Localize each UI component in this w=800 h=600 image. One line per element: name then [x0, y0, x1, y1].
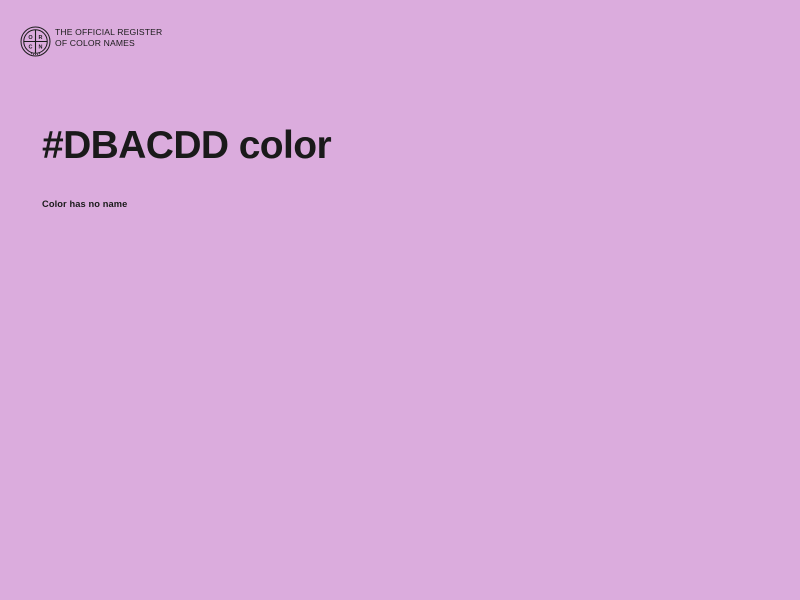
- svg-text:R: R: [39, 35, 43, 41]
- official-register-seal-icon: O R C N: [20, 25, 51, 57]
- brand-wordmark-line-1: THE OFFICIAL REGISTER: [55, 27, 162, 38]
- color-info-block: #DBACDD color Color has no name: [42, 122, 742, 170]
- page-title: #DBACDD color: [42, 122, 742, 170]
- color-name-status: Color has no name: [42, 198, 127, 210]
- svg-text:C: C: [29, 45, 33, 51]
- brand-wordmark: THE OFFICIAL REGISTER OF COLOR NAMES: [55, 25, 162, 48]
- svg-text:N: N: [39, 45, 43, 51]
- color-page: O R C N THE OFFICIAL REGISTER OF COLOR N…: [0, 0, 800, 600]
- svg-text:O: O: [28, 35, 33, 41]
- brand-lockup[interactable]: O R C N THE OFFICIAL REGISTER OF COLOR N…: [20, 25, 162, 57]
- brand-wordmark-line-2: OF COLOR NAMES: [55, 38, 162, 49]
